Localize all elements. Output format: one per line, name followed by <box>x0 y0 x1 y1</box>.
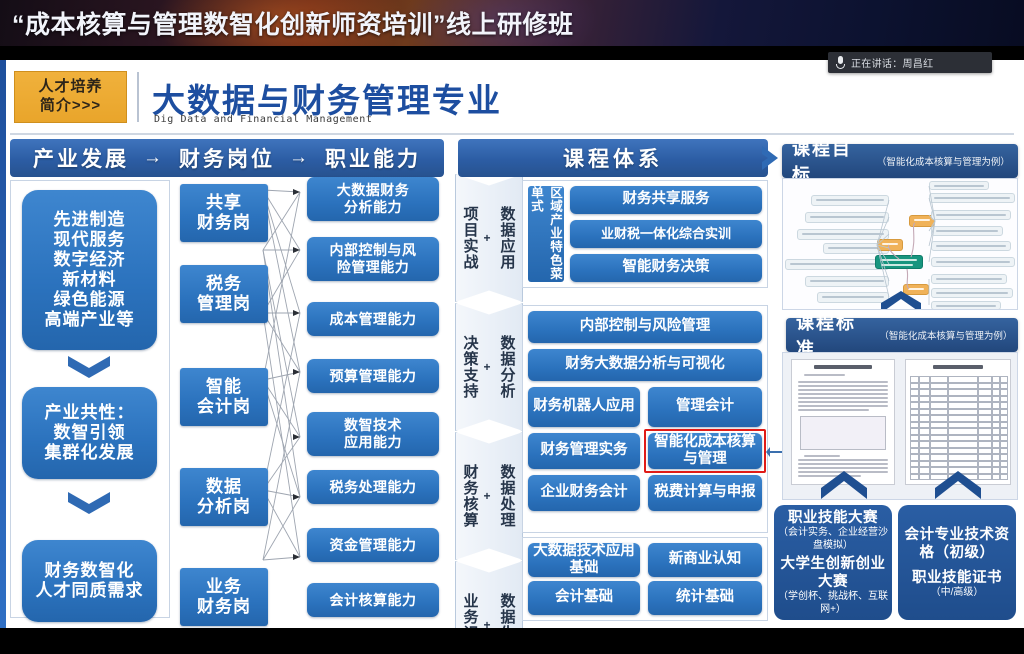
competition-note-1: （会计实务、企业经营沙盘模拟） <box>778 527 888 552</box>
course-smart-financial-decision: 智能财务决策 <box>570 254 762 282</box>
talent-training-badge: 人才培养 简介>>> <box>14 71 127 123</box>
stage-chevron-project-practice: 项目实战 + 数据应用 <box>455 174 523 302</box>
course-accounting-basics: 会计基础 <box>528 581 640 615</box>
screen: “成本核算与管理数智化创新师资培训”线上研修班 人才培养 简介>>> 大数据与财… <box>0 0 1024 654</box>
chevron-down-icon-2 <box>66 490 112 516</box>
stage-chevron-financial-accounting: 财务核算 + 数据处理 <box>455 432 523 560</box>
stage-right-label: 数据分析 <box>495 303 519 431</box>
post-line: 税务 <box>206 274 242 294</box>
flow-header-item-1: 产业发展 <box>33 143 129 173</box>
course-enterprise-financial-accounting: 企业财务会计 <box>528 475 640 511</box>
doc-embedded-table <box>800 416 886 450</box>
course-statistics-basics: 统计基础 <box>648 581 762 615</box>
ability-line: 会计核算能力 <box>330 592 417 609</box>
doc-title-line <box>933 365 983 369</box>
industry-item: 高端产业等 <box>45 310 135 330</box>
badge-line-1: 人才培养 <box>38 78 102 97</box>
course-financial-shared-service: 财务共享服务 <box>570 186 762 214</box>
industry-item: 数智引领 <box>54 423 126 443</box>
ability-line: 预算管理能力 <box>330 368 417 385</box>
post-line: 共享 <box>206 193 242 213</box>
post-box-business-finance: 业务 财务岗 <box>180 568 268 626</box>
post-line: 管理岗 <box>197 294 251 314</box>
chevron-up-icon-left <box>819 471 869 500</box>
window-title-bar: “成本核算与管理数智化创新师资培训”线上研修班 <box>0 0 1024 46</box>
stage-chevron-decision-support: 决策支持 + 数据分析 <box>455 303 523 431</box>
ability-line: 资金管理能力 <box>330 537 417 554</box>
competition-note-2: （学创杯、挑战杯、互联网+） <box>778 591 888 616</box>
course-financial-robot: 财务机器人应用 <box>528 387 640 427</box>
post-line: 分析岗 <box>197 497 251 517</box>
post-line: 业务 <box>206 577 242 597</box>
stage-left-label: 项目实战 <box>459 174 481 302</box>
competition-title-2: 大学生创新创业大赛 <box>778 555 888 591</box>
industry-item: 人才同质需求 <box>36 581 144 601</box>
mind-map-pane <box>782 178 1018 310</box>
ability-box-budget-management: 预算管理能力 <box>307 359 439 393</box>
window-title: “成本核算与管理数智化创新师资培训”线上研修班 <box>12 5 574 41</box>
header-divider <box>137 72 139 122</box>
ability-box-fund-management: 资金管理能力 <box>307 528 439 562</box>
doc-table-grid <box>910 376 1008 480</box>
slide-left-edge <box>0 60 6 628</box>
certificate-note-2: （中/高级） <box>931 587 984 600</box>
industry-item: 绿色能源 <box>54 290 126 310</box>
course-tax-calculation-declaration: 税费计算与申报 <box>648 475 762 511</box>
industry-item: 产业共性： <box>45 403 135 423</box>
arrow-right-icon-1: → <box>143 147 165 169</box>
industry-item: 数字经济 <box>54 250 126 270</box>
industry-box-1: 先进制造 现代服务 数字经济 新材料 绿色能源 高端产业等 <box>22 190 157 350</box>
course-management-accounting: 管理会计 <box>648 387 762 427</box>
post-line: 会计岗 <box>197 397 251 417</box>
active-speaker-label: 正在讲话：周昌红 <box>851 55 933 70</box>
ability-box-cost-management: 成本管理能力 <box>307 302 439 336</box>
industry-item: 集群化发展 <box>45 443 135 463</box>
post-line: 财务岗 <box>197 213 251 233</box>
slide-subtitle: Dig Data and Financial Management <box>154 114 372 125</box>
stage-right-label: 数据生成 <box>495 561 519 628</box>
ability-line: 内部控制与风 <box>330 242 417 259</box>
course-bigdata-visualization: 财务大数据分析与可视化 <box>528 349 762 381</box>
course-internal-control-risk: 内部控制与风险管理 <box>528 311 762 343</box>
post-line: 数据 <box>206 477 242 497</box>
industry-item: 新材料 <box>63 270 117 290</box>
curriculum-header-label: 课程体系 <box>563 143 663 173</box>
certificate-title-2: 职业技能证书 <box>912 569 1002 587</box>
flow-header-item-2: 财务岗位 <box>179 143 275 173</box>
course-new-business-cognition: 新商业认知 <box>648 543 762 577</box>
arrow-to-goal-icon <box>762 144 782 172</box>
stage-right-label: 数据处理 <box>495 432 519 560</box>
ability-box-tax-processing: 税务处理能力 <box>307 470 439 504</box>
course-standard-doc-text <box>791 359 895 485</box>
shared-slide: 人才培养 简介>>> 大数据与财务管理专业 Dig Data and Finan… <box>0 60 1024 628</box>
ability-line: 分析能力 <box>344 199 402 216</box>
certificate-title-1: 会计专业技术资格（初级） <box>902 526 1012 562</box>
post-box-shared-finance: 共享 财务岗 <box>180 184 268 242</box>
ability-line: 成本管理能力 <box>330 311 417 328</box>
microphone-icon <box>836 56 845 69</box>
post-line: 财务岗 <box>197 597 251 617</box>
chevron-down-icon-1 <box>66 354 112 380</box>
stage-plus: + <box>480 432 494 560</box>
bottom-black-bar <box>0 628 1024 654</box>
stage-plus: + <box>480 174 494 302</box>
ability-line: 险管理能力 <box>337 259 410 276</box>
certificate-box: 会计专业技术资格（初级） 职业技能证书 （中/高级） <box>898 505 1016 620</box>
course-standard-doc-table <box>905 359 1011 485</box>
stage-left-label: 财务核算 <box>459 432 481 560</box>
curriculum-header-bar: 课程体系 <box>458 139 768 177</box>
ability-line: 税务处理能力 <box>330 479 417 496</box>
ability-box-bigdata-analysis: 大数据财务 分析能力 <box>307 177 439 221</box>
course-integrated-training: 业财税一体化综合实训 <box>570 220 762 248</box>
stage-left-label: 决策支持 <box>459 303 481 431</box>
flow-header-bar: 产业发展 → 财务岗位 → 职业能力 <box>10 139 444 177</box>
doc-title-line <box>814 365 871 369</box>
ability-line: 应用能力 <box>344 434 402 451</box>
chevron-up-icon-right <box>933 471 983 500</box>
competition-box: 职业技能大赛 （会计实务、企业经营沙盘模拟） 大学生创新创业大赛 （学创杯、挑战… <box>774 505 892 620</box>
industry-item: 现代服务 <box>54 230 126 250</box>
regional-industry-tab: 区域产业特色菜单式 <box>528 186 564 282</box>
course-financial-management-practice: 财务管理实务 <box>528 433 640 469</box>
stage-left-label: 业务识别 <box>459 561 481 628</box>
industry-item: 先进制造 <box>54 210 126 230</box>
badge-line-2: 简介>>> <box>40 97 101 116</box>
competition-title-1: 职业技能大赛 <box>788 509 878 527</box>
post-box-data-analysis: 数据 分析岗 <box>180 468 268 526</box>
arrow-right-icon-2: → <box>289 147 311 169</box>
ability-line: 大数据财务 <box>337 182 410 199</box>
standard-header: 课程标准 （智能化成本核算与管理为例） <box>786 318 1018 352</box>
post-line: 智能 <box>206 377 242 397</box>
stage-plus: + <box>480 561 494 628</box>
stage-plus: + <box>480 303 494 431</box>
standard-docs-pane <box>782 352 1018 500</box>
stage-chevron-business-identify: 业务识别 + 数据生成 <box>455 561 523 628</box>
ability-box-digital-tech: 数智技术 应用能力 <box>307 412 439 456</box>
course-smart-cost-accounting: 智能化成本核算与管理 <box>648 433 762 469</box>
goal-header: 课程目标 （智能化成本核算与管理为例） <box>782 144 1018 178</box>
flow-header-item-3: 职业能力 <box>325 143 421 173</box>
chevron-up-icon-goal <box>879 291 923 310</box>
industry-box-3: 财务数智化 人才同质需求 <box>22 540 157 622</box>
industry-item: 财务数智化 <box>45 561 135 581</box>
ability-box-internal-control: 内部控制与风 险管理能力 <box>307 237 439 281</box>
course-bigdata-basics: 大数据技术应用基础 <box>528 543 640 577</box>
standard-note: （智能化成本核算与管理为例） <box>879 328 1008 342</box>
stage-right-label: 数据应用 <box>495 174 519 302</box>
mindmap-links <box>783 179 1017 309</box>
post-box-tax-management: 税务 管理岗 <box>180 265 268 323</box>
active-speaker-pill: 正在讲话：周昌红 <box>828 52 992 73</box>
industry-box-2: 产业共性： 数智引领 集群化发展 <box>22 387 157 479</box>
ability-line: 数智技术 <box>344 417 402 434</box>
ability-box-accounting: 会计核算能力 <box>307 583 439 617</box>
post-box-smart-accounting: 智能 会计岗 <box>180 368 268 426</box>
goal-note: （智能化成本核算与管理为例） <box>877 154 1008 168</box>
